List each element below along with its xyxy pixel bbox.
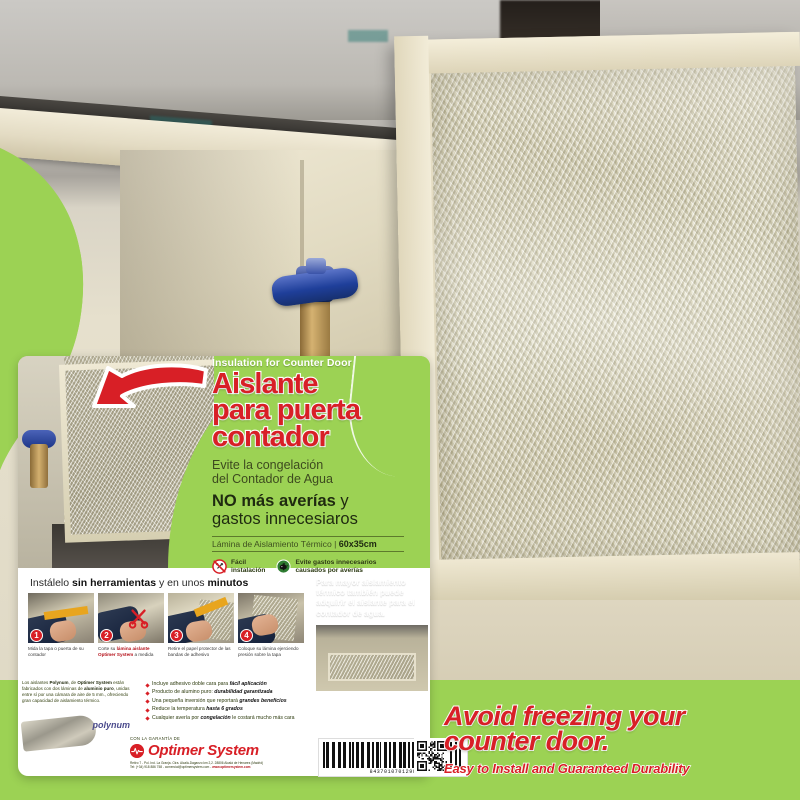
- label-claim-rest: y: [336, 492, 349, 510]
- desc-brand-optimer: Optimer System: [77, 680, 112, 685]
- step-number: 1: [30, 629, 43, 642]
- instr-title-pre: Instálelo: [30, 577, 72, 589]
- instruction-step: 1 Mida la tapa o puerta de su contador: [28, 593, 94, 657]
- step-number: 2: [100, 629, 113, 642]
- step-caption-b: a medida: [133, 652, 153, 657]
- label-badges: Fácil instalación Evite gastos innecesar…: [212, 559, 420, 575]
- bullet-bold: durabilidad garantizada: [214, 689, 272, 695]
- badge-line-2: causados por averías: [295, 567, 376, 575]
- instructions-panel: Instálelo sin herramientas y en unos min…: [22, 572, 310, 678]
- footer-strip: CON LA GARANTÍA DE Optimer System Retiro…: [22, 736, 442, 780]
- instruction-steps: 1 Mida la tapa o puerta de su contador: [22, 593, 310, 657]
- qr-code-image: [417, 741, 447, 771]
- step-caption: Coloque su lámina ejerciendo presión sob…: [238, 646, 304, 657]
- bullet-text: Producto de alumino puro: durabilidad ga…: [152, 689, 273, 695]
- hand: [48, 619, 77, 643]
- brand-name: Optimer System: [148, 742, 259, 759]
- scissors-icon: [128, 607, 150, 629]
- instruction-step: 4 Coloque su lámina ejerciendo presión s…: [238, 593, 304, 657]
- product-description-block: Los aislantes Polynum, de Optimer System…: [22, 680, 130, 734]
- step-caption-a: Retire el papel protector: [168, 646, 217, 651]
- step-number: 4: [240, 629, 253, 642]
- bullet-marker-icon: [145, 708, 149, 712]
- upsell-note: Para mayor aislamiento térmico también p…: [316, 578, 434, 691]
- feature-bullet-list: Incluye adhesivo doble cara para fácil a…: [146, 681, 436, 723]
- desc-c: , de: [69, 680, 78, 685]
- step-photo: 4: [238, 593, 304, 643]
- badge-easy-install: Fácil instalación: [212, 559, 265, 575]
- company-website: www.optimersystem.com: [212, 765, 250, 769]
- label-title-line-1: Aislante: [212, 371, 420, 398]
- guarantee-block: CON LA GARANTÍA DE Optimer System Retiro…: [130, 736, 263, 769]
- step-caption-a: Coloque su lámina ejerciendo: [238, 646, 299, 651]
- upsell-note-text: Para mayor aislamiento térmico también p…: [316, 578, 434, 619]
- label-claim: NO más averías y gastos innecesiaros: [212, 492, 420, 528]
- bullet-pre: Una pequeña inversión que reportará: [152, 698, 239, 704]
- bullet-bold: hasta 6 grados: [206, 706, 243, 712]
- desc-material: aluminio puro: [84, 686, 114, 691]
- bullet-text: Una pequeña inversión que reportará gran…: [152, 698, 287, 704]
- step-caption: Retire el papel protector de las bandas …: [168, 646, 234, 657]
- brand-row: Optimer System: [130, 742, 263, 759]
- tagline-line-3: Easy to Install and Guaranteed Durabilit…: [444, 761, 784, 776]
- label-spec-text: Lámina de Aislamiento Térmico |: [212, 539, 339, 549]
- product-packaging-image: Insulation for Counter Door Aislante par…: [0, 0, 800, 800]
- polynum-logo: polynum: [93, 720, 131, 730]
- badge-save-money: Evite gastos innecesarios causados por a…: [276, 559, 376, 575]
- desc-brand-polynum: Polynum: [50, 680, 69, 685]
- step-caption-a: Corte su: [98, 646, 117, 651]
- bullet-text: Incluye adhesivo doble cara para fácil a…: [152, 681, 267, 687]
- label-title-line-3: contador: [212, 424, 420, 451]
- bullet-marker-icon: [145, 691, 149, 695]
- feature-bullet: Reduce la temperatura hasta 6 grados: [146, 706, 436, 712]
- bullet-pre: Reduce la temperatura: [152, 706, 206, 712]
- step-photo: 3: [168, 593, 234, 643]
- step-caption: Corte su lámina aislante Optimer System …: [98, 646, 164, 657]
- english-tagline: Avoid freezing your counter door. Easy t…: [444, 704, 784, 776]
- label-subtitle-line-2: del Contador de Agua: [212, 472, 420, 486]
- step-photo: 1: [28, 593, 94, 643]
- bullet-post: le costará mucho más cara: [231, 715, 295, 721]
- step-caption-bold-2: Optimer System: [98, 652, 133, 657]
- product-info-strip: Los aislantes Polynum, de Optimer System…: [22, 680, 434, 734]
- bullet-bold: congelación: [200, 715, 230, 721]
- badge-easy-install-text: Fácil instalación: [231, 559, 265, 575]
- badge-line-1: Evite gastos innecesarios: [295, 559, 376, 567]
- label-title-line-2: para puerta: [212, 397, 420, 424]
- inset-pipe: [30, 444, 48, 488]
- instructions-title: Instálelo sin herramientas y en unos min…: [22, 572, 310, 593]
- label-claim-line-2: gastos innecesiaros: [212, 510, 420, 528]
- bullet-pre: Incluye adhesivo doble cara para: [152, 681, 230, 687]
- bullet-marker-icon: [145, 700, 149, 704]
- piggy-bank-icon: [276, 559, 291, 574]
- company-address: Retiro 7 - Pol. Ind. La Granja. Ctra. Al…: [130, 761, 263, 769]
- instr-title-bold-1: sin herramientas: [72, 577, 156, 589]
- bullet-marker-icon: [145, 717, 149, 721]
- feature-bullet: Incluye adhesivo doble cara para fácil a…: [146, 681, 436, 687]
- instr-title-mid: y en unos: [156, 577, 207, 589]
- badge-line-2: instalación: [231, 567, 265, 575]
- feature-bullet: Producto de alumino puro: durabilidad ga…: [146, 689, 436, 695]
- step-caption-bold: lámina aislante: [117, 646, 150, 651]
- step-caption-a: Mida la tapa o puerta: [28, 646, 71, 651]
- feature-bullet: Cualquier avería por congelación le cost…: [146, 715, 436, 721]
- optimer-logo-icon: [130, 744, 144, 758]
- product-description: Los aislantes Polynum, de Optimer System…: [22, 680, 130, 704]
- label-claim-strong: NO más averías: [212, 492, 336, 510]
- tagline-line-2: counter door.: [444, 729, 784, 754]
- instruction-step: 2 Corte su lámina aislante Optimer Syste…: [98, 593, 164, 657]
- desc-a: Los aislantes: [22, 680, 50, 685]
- instruction-step: 3 Retire el papel protector de las banda…: [168, 593, 234, 657]
- instr-title-bold-2: minutos: [207, 577, 248, 589]
- bullet-marker-icon: [145, 683, 149, 687]
- guarantee-label: CON LA GARANTÍA DE: [130, 736, 263, 741]
- red-arrow-icon: [82, 360, 212, 422]
- step-caption-b: presión sobre la tapa: [238, 652, 281, 657]
- label-subtitle-line-1: Evite la congelación: [212, 458, 420, 472]
- label-subtitle: Evite la congelación del Contador de Agu…: [212, 458, 420, 486]
- badge-save-money-text: Evite gastos innecesarios causados por a…: [295, 559, 376, 575]
- bullet-bold: grandes beneficios: [239, 698, 286, 704]
- label-headline-block: Insulation for Counter Door Aislante par…: [212, 358, 420, 575]
- no-tools-icon: [212, 559, 227, 574]
- hand: [184, 619, 213, 643]
- upsell-foil-panel: [328, 653, 416, 681]
- step-number: 3: [170, 629, 183, 642]
- bullet-pre: Cualquier avería por: [152, 715, 200, 721]
- feature-bullet: Una pequeña inversión que reportará gran…: [146, 698, 436, 704]
- step-photo: 2: [98, 593, 164, 643]
- bullet-pre: Producto de alumino puro:: [152, 689, 214, 695]
- badge-line-1: Fácil: [231, 559, 265, 567]
- bullet-text: Cualquier avería por congelación le cost…: [152, 715, 294, 721]
- step-caption: Mida la tapa o puerta de su contador: [28, 646, 94, 657]
- address-line-2: Tel: (+34) 918 886 758 - comercial@optim…: [130, 765, 212, 769]
- bullet-text: Reduce la temperatura hasta 6 grados: [152, 706, 243, 712]
- label-spec-line: Lámina de Aislamiento Térmico | 60x35cm: [212, 536, 404, 552]
- bullet-bold: fácil aplicación: [230, 681, 267, 687]
- label-spec-size: 60x35cm: [339, 539, 377, 549]
